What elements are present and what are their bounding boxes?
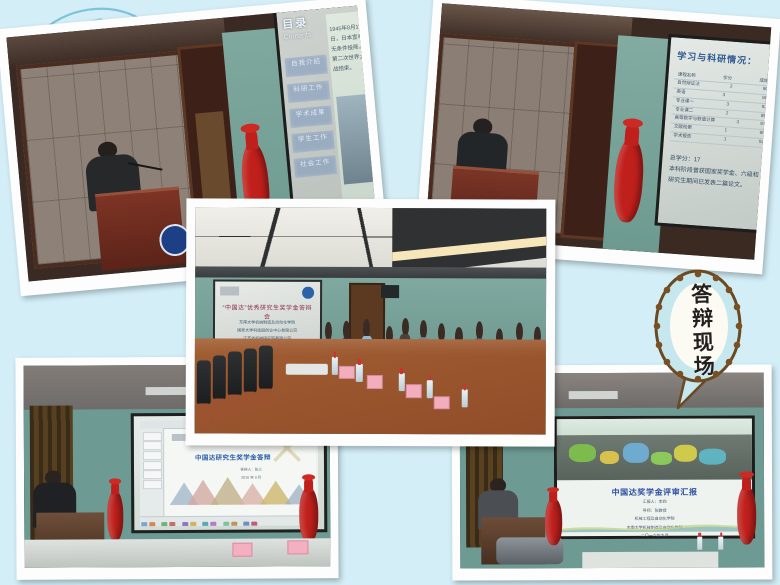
slide-banner-image [557,435,752,480]
slide-table: 课程名称 学分 成绩 自然辩证法 2 90 英语 3 88 [670,71,771,149]
red-vase [107,491,124,542]
cell: 英语 [676,89,686,97]
cell: 93 [759,139,765,147]
slide-title: 学习与科研情况： [677,49,758,68]
projector-device [286,364,328,375]
chevron-graphic [168,475,314,505]
red-vase [299,487,318,542]
slide-item: 自我介绍 [285,55,329,78]
cell: 2 [725,110,728,118]
table-header-cell: 成绩 [759,77,769,85]
slide-title: 中国达奖学金评审汇报 [573,486,736,498]
table-header-cell: 学分 [723,75,733,83]
cell: 1 [724,136,727,144]
slide-title-block: 目录 Contents [282,17,326,48]
name-card [339,366,355,379]
projector-screen-contents: 目录 Contents 自我介绍 科研工作 学术成果 学生工作 社会工作 194… [273,6,379,223]
cell: 88 [762,95,768,103]
slide-item: 科研工作 [287,80,331,103]
slide-item: 学生工作 [291,130,335,153]
photo-center-image: “中国达”优秀研究生奖学金答辩会 东南大学机械制造及自动化学院 国家大学科技园创… [195,207,547,434]
slide-photo [336,94,378,184]
red-vase [545,498,562,545]
water-bottle [719,536,724,550]
speech-bubble[interactable]: 答辩现场 [648,262,748,412]
water-bottle [398,373,404,391]
cell: 90 [762,86,768,94]
water-bottle [426,380,432,398]
wall-speaker [381,285,399,299]
water-bottle [461,389,467,407]
cell: 92 [761,104,767,112]
cell: 3 [726,101,729,109]
slide-item: 社会工作 [294,156,338,179]
cell: 学术报告 [673,133,692,142]
cell: 专业课一 [676,97,695,106]
front-table [582,552,719,569]
projector-screen-research: 学习与科研情况： 课程名称 学分 成绩 自然辩证法 2 90 英语 3 [654,34,771,234]
front-desk [24,538,330,568]
cell: 3 [722,92,725,100]
cell: 89 [761,113,767,121]
water-bottle [697,536,702,550]
wave-graphic [557,520,752,532]
cell: 文献检索 [674,124,693,133]
water-bottle [332,357,338,375]
slide-subtitle: Contents [283,32,312,42]
cell: 1 [724,127,727,135]
name-card [405,384,421,397]
water-bottle [356,364,362,382]
speech-bubble-shape [648,262,748,412]
chair-row [195,347,315,429]
cell: 95 [759,130,765,138]
ac-vent [569,391,618,400]
slide-subtitle: 汇报人：李四 导师：张教授 机械工程及自动化学院 东南大学机械制造及自动化学院 … [588,498,720,540]
photo-collage: 目录 Contents 自我介绍 科研工作 学术成果 学生工作 社会工作 194… [0,0,780,585]
name-card [232,542,252,556]
name-card [433,396,449,409]
slide-body-text: 1945年8月15日，日本宣布无条件投降，第二次世界大战结束。 [329,23,369,75]
ppt-taskbar [140,515,318,526]
photo-center[interactable]: “中国达”优秀研究生奖学金答辩会 东南大学机械制造及自动化学院 国家大学科技园创… [186,198,556,446]
slide-line: 国家大学科技园创业中心有限公司 [227,326,307,334]
slide-item: 学术成果 [289,105,333,128]
name-card [288,540,308,554]
slide-title: 中国达研究生奖学金答辩 [177,451,289,462]
slide-note: 总学分：17 本科阶段曾获国家奖学金、六级和研究生期间已发表二篇论文。 [668,153,764,194]
slide-line: 东南大学机械制造及自动化学院 [227,318,307,326]
slide-logo [220,286,239,296]
slide-content-panel: 1945年8月15日，日本宣布无条件投降，第二次世界大战结束。 [326,11,380,212]
name-card [367,375,383,388]
cell: 2 [730,84,733,92]
cell: 91 [760,121,766,129]
slide-title: 目录 [282,17,325,32]
projector-screen-review: 中国达奖学金评审汇报 汇报人：李四 导师：张教授 机械工程及自动化学院 东南大学… [554,415,755,539]
slide-seal [302,286,314,299]
red-vase [737,486,757,545]
cell: 3 [736,120,739,128]
